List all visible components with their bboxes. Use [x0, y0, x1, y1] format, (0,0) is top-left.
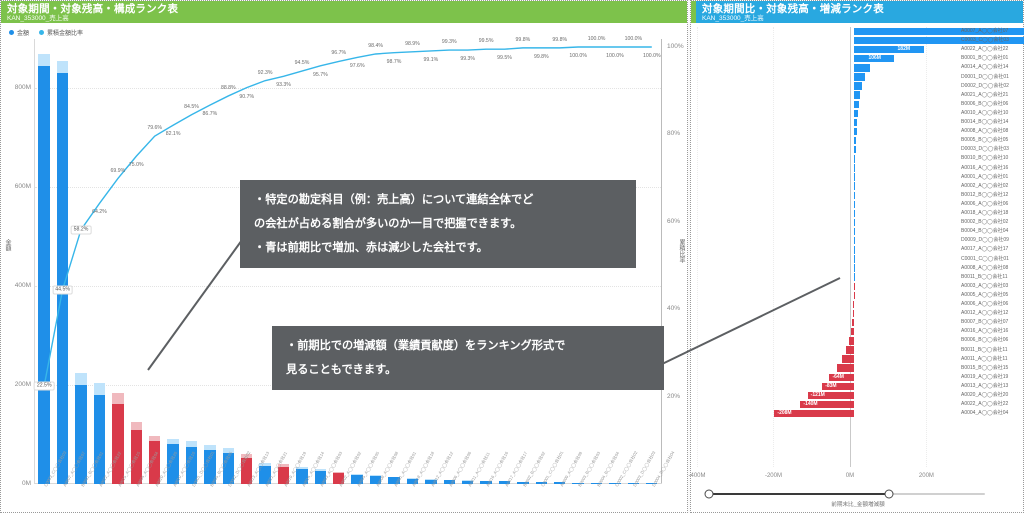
ranking-bar-23 — [854, 237, 855, 244]
ranking-row-22[interactable]: B0004_B◯◯会社04 — [695, 227, 1021, 236]
cumulative-label-6: 79.6% — [147, 125, 162, 131]
ranking-category-5: D0001_D◯◯会社01 — [961, 73, 1009, 82]
ranking-bar-28 — [854, 283, 855, 290]
callout-composition-line-2: の会社が占める割合が多いのか一目で把握できます。 — [254, 212, 622, 236]
ranking-category-31: A0012_A◯◯会社12 — [961, 309, 1008, 318]
ranking-bar-29 — [854, 292, 855, 299]
ranking-category-24: A0017_A◯◯会社17 — [961, 245, 1008, 254]
ranking-row-23[interactable]: D0009_D◯◯会社09 — [695, 236, 1021, 245]
ranking-row-19[interactable]: A0006_A◯◯会社06 — [695, 200, 1021, 209]
ranking-bar-33 — [851, 328, 854, 335]
ranking-category-41: A0022_A◯◯会社22 — [961, 400, 1008, 409]
y-tick-400M: 400M — [1, 282, 31, 289]
leader-line-ranking — [650, 270, 850, 380]
bar-cap-1 — [57, 61, 68, 73]
ranking-category-37: B0015_B◯◯会社15 — [961, 364, 1008, 373]
cumulative-label-2: 58.2% — [71, 225, 92, 234]
cumulative-label-17: 97.6% — [350, 63, 365, 69]
ranking-bar-2 — [854, 46, 924, 53]
ranking-bar-22 — [854, 228, 855, 235]
ranking-row-17[interactable]: A0002_A◯◯会社02 — [695, 182, 1021, 191]
cumulative-label-14: 94.5% — [295, 60, 310, 66]
ranking-bar-12 — [854, 137, 856, 144]
ranking-category-39: A0013_A◯◯会社13 — [961, 382, 1008, 391]
ranking-row-39[interactable]: -83MA0013_A◯◯会社13 — [695, 382, 1021, 391]
left-chart-legend: 金額 累積金額比率 — [9, 28, 83, 37]
bar-1[interactable] — [57, 61, 68, 484]
bar-body-1 — [57, 73, 68, 484]
ranking-row-2[interactable]: 182MA0022_A◯◯会社22 — [695, 45, 1021, 54]
ranking-category-34: B0006_B◯◯会社06 — [961, 336, 1008, 345]
ranking-bar-17 — [854, 182, 855, 189]
legend-item-amount: 金額 — [9, 28, 29, 37]
ranking-row-6[interactable]: D0002_D◯◯会社02 — [695, 82, 1021, 91]
ranking-bar-16 — [854, 173, 855, 180]
ranking-category-0: A0007_A◯◯会社07 — [961, 27, 1008, 36]
ranking-category-17: A0002_A◯◯会社02 — [961, 182, 1008, 191]
ranking-category-26: A0008_A◯◯会社08 — [961, 264, 1008, 273]
ranking-row-3[interactable]: 106MB0001_B◯◯会社01 — [695, 54, 1021, 63]
ranking-category-12: B0005_B◯◯会社05 — [961, 136, 1008, 145]
ranking-category-30: A0006_A◯◯会社06 — [961, 300, 1008, 309]
ranking-category-20: A0018_A◯◯会社18 — [961, 209, 1008, 218]
legend-label-amount: 金額 — [17, 28, 29, 37]
ranking-row-20[interactable]: A0018_A◯◯会社18 — [695, 209, 1021, 218]
ranking-category-27: B0011_B◯◯会社11 — [961, 273, 1008, 282]
right-x-tick--400: -400M — [688, 473, 705, 479]
legend-label-cumulative: 累積金額比率 — [47, 28, 83, 37]
y-tick-0M: 0M — [1, 480, 31, 487]
ranking-row-21[interactable]: B0002_B◯◯会社02 — [695, 218, 1021, 227]
callout-composition-line-3: ・青は前期比で増加、赤は減少した会社です。 — [254, 236, 622, 260]
cumulative-label-18: 98.4% — [368, 43, 383, 49]
callout-composition-line-1: ・特定の勘定科目（例：売上高）について連結全体でど — [254, 188, 622, 212]
cumulative-label-3: 64.2% — [92, 209, 107, 215]
callout-ranking-line-1: ・前期比での増減額（業績貢献度）をランキング形式で — [286, 334, 650, 358]
left-panel-header: 対象期間・対象残高・構成ランク表 KAN_353000_売上高 — [1, 1, 687, 23]
cumulative-label-22: 99.3% — [442, 39, 457, 45]
bar-4[interactable] — [112, 393, 123, 484]
cumulative-label-21: 99.1% — [423, 57, 438, 63]
ranking-row-41[interactable]: -140MA0022_A◯◯会社22 — [695, 400, 1021, 409]
ranking-bar-25 — [854, 255, 855, 262]
cumulative-label-25: 99.5% — [497, 55, 512, 61]
slider-knob-max[interactable] — [885, 490, 894, 499]
right-x-tick-0: 0M — [846, 473, 854, 479]
cumulative-label-33: 100.0% — [643, 53, 661, 59]
ranking-row-8[interactable]: B0006_B◯◯会社06 — [695, 100, 1021, 109]
ranking-bar-7 — [854, 91, 861, 98]
ranking-category-33: A0016_A◯◯会社16 — [961, 327, 1008, 336]
cumulative-label-29: 100.0% — [569, 53, 587, 59]
cumulative-label-5: 75.0% — [129, 162, 144, 168]
ranking-bar-value-2: 182M — [898, 46, 911, 53]
cumulative-label-24: 99.5% — [479, 38, 494, 44]
ranking-category-35: B0011_B◯◯会社11 — [961, 346, 1008, 355]
ranking-category-28: A0003_A◯◯会社03 — [961, 282, 1008, 291]
ranking-bar-31 — [853, 310, 854, 317]
cumulative-label-12: 92.3% — [258, 70, 273, 76]
callout-ranking-line-2: 見ることもできます。 — [286, 358, 650, 382]
ranking-row-7[interactable]: A0021_A◯◯会社21 — [695, 91, 1021, 100]
ranking-category-36: A0011_A◯◯会社11 — [961, 355, 1008, 364]
slider-knob-min[interactable] — [705, 490, 714, 499]
ranking-row-25[interactable]: C0001_C◯◯会社01 — [695, 255, 1021, 264]
ranking-category-11: A0008_A◯◯会社08 — [961, 127, 1008, 136]
cumulative-label-16: 96.7% — [331, 50, 346, 56]
bar-body-0 — [38, 66, 49, 484]
legend-dot-amount — [9, 30, 14, 35]
ranking-bar-value-39: -83M — [825, 383, 836, 390]
ranking-bar-11 — [854, 128, 857, 135]
ranking-row-10[interactable]: B0014_B◯◯会社14 — [695, 118, 1021, 127]
ranking-category-22: B0004_B◯◯会社04 — [961, 227, 1008, 236]
ranking-category-10: B0014_B◯◯会社14 — [961, 118, 1008, 127]
cumulative-label-9: 86.7% — [203, 111, 218, 117]
ranking-row-12[interactable]: B0005_B◯◯会社05 — [695, 136, 1021, 145]
ranking-row-16[interactable]: A0001_A◯◯会社01 — [695, 173, 1021, 182]
cumulative-label-19: 98.7% — [387, 59, 402, 65]
ranking-bar-26 — [854, 264, 855, 271]
ranking-row-14[interactable]: B0010_B◯◯会社10 — [695, 154, 1021, 163]
ranking-category-6: D0002_D◯◯会社02 — [961, 82, 1009, 91]
ranking-category-18: B0012_B◯◯会社12 — [961, 191, 1008, 200]
ranking-category-21: B0002_B◯◯会社02 — [961, 218, 1008, 227]
ranking-bar-8 — [854, 101, 859, 108]
legend-dot-cumulative — [39, 30, 44, 35]
ranking-bar-24 — [854, 246, 855, 253]
ranking-bar-32 — [852, 319, 854, 326]
ranking-category-25: C0001_C◯◯会社01 — [961, 255, 1009, 264]
increase-decrease-rank-panel: 対象期間比・対象残高・増減ランク表 KAN_353000_売上高 549MA00… — [690, 0, 1024, 513]
right-panel-title: 対象期間比・対象残高・増減ランク表 — [702, 3, 1023, 15]
ranking-category-7: A0021_A◯◯会社21 — [961, 91, 1008, 100]
y-tick-600M: 600M — [1, 183, 31, 190]
left-panel-subtitle: KAN_353000_売上高 — [7, 15, 687, 23]
cumulative-label-27: 99.8% — [534, 54, 549, 60]
cumulative-label-20: 98.9% — [405, 41, 420, 47]
ranking-row-24[interactable]: A0017_A◯◯会社17 — [695, 245, 1021, 254]
dashboard-root: 対象期間・対象残高・構成ランク表 KAN_353000_売上高 金額 累積金額比… — [0, 0, 1024, 513]
right-chart-plot-area: 549MA0007_A◯◯会社07532MC0003_C◯◯会社03182MA0… — [695, 27, 1021, 467]
ranking-category-2: A0022_A◯◯会社22 — [961, 45, 1008, 54]
ranking-bar-27 — [854, 273, 855, 280]
cumulative-label-30: 100.0% — [588, 36, 606, 42]
ranking-row-13[interactable]: D0003_D◯◯会社03 — [695, 145, 1021, 154]
left-panel-title: 対象期間・対象残高・構成ランク表 — [7, 3, 687, 15]
bar-body-3 — [94, 395, 105, 484]
ranking-category-32: B0007_B◯◯会社07 — [961, 318, 1008, 327]
right-x-tick-200: 200M — [919, 473, 934, 479]
ranking-category-23: D0009_D◯◯会社09 — [961, 236, 1009, 245]
ranking-bar-30 — [853, 301, 854, 308]
left-chart-y-axis-title: 金額 — [3, 239, 12, 251]
ranking-row-42[interactable]: -208MA0004_A◯◯会社04 — [695, 409, 1021, 418]
cumulative-label-10: 88.8% — [221, 85, 236, 91]
ranking-category-42: A0004_A◯◯会社04 — [961, 409, 1008, 418]
ranking-category-13: D0003_D◯◯会社03 — [961, 145, 1009, 154]
bar-cap-3 — [94, 383, 105, 395]
cumulative-label-11: 90.7% — [239, 94, 254, 100]
cumulative-label-13: 93.3% — [276, 82, 291, 88]
callout-composition: ・特定の勘定科目（例：売上高）について連結全体でど の会社が占める割合が多いのか… — [240, 180, 636, 268]
ranking-bar-21 — [854, 219, 855, 226]
ranking-bar-6 — [854, 82, 862, 89]
ranking-category-15: A0016_A◯◯会社16 — [961, 164, 1008, 173]
bar-0[interactable] — [38, 54, 49, 484]
right-x-tick--200: -200M — [765, 473, 782, 479]
ranking-category-14: B0010_B◯◯会社10 — [961, 154, 1008, 163]
ranking-bar-20 — [854, 210, 855, 217]
ranking-row-40[interactable]: -121MA0020_A◯◯会社20 — [695, 391, 1021, 400]
y-tick-800M: 800M — [1, 84, 31, 91]
ranking-bar-4 — [854, 64, 870, 71]
ranking-bar-9 — [854, 110, 858, 117]
legend-item-cumulative: 累積金額比率 — [39, 28, 83, 37]
cumulative-label-15: 95.7% — [313, 72, 328, 78]
ranking-bar-10 — [854, 119, 857, 126]
callout-ranking: ・前期比での増減額（業績貢献度）をランキング形式で 見ることもできます。 — [272, 326, 664, 390]
ranking-category-40: A0020_A◯◯会社20 — [961, 391, 1008, 400]
ranking-bar-value-40: -121M — [811, 392, 825, 399]
bar-cap-5 — [131, 422, 142, 429]
ranking-bar-14 — [854, 155, 856, 162]
right-panel-subtitle: KAN_353000_売上高 — [702, 15, 1023, 23]
ranking-bar-5 — [854, 73, 865, 80]
cumulative-label-31: 100.0% — [606, 53, 624, 59]
ranking-category-1: C0003_C◯◯会社03 — [961, 36, 1009, 45]
bar-cap-4 — [112, 393, 123, 404]
ranking-bar-13 — [854, 146, 856, 153]
ranking-bar-value-3: 106M — [868, 55, 881, 62]
ranking-category-4: A0014_A◯◯会社14 — [961, 63, 1008, 72]
ranking-category-19: A0006_A◯◯会社06 — [961, 200, 1008, 209]
cumulative-label-28: 99.8% — [552, 37, 567, 43]
ranking-category-16: A0001_A◯◯会社01 — [961, 173, 1008, 182]
ranking-category-3: B0001_B◯◯会社01 — [961, 54, 1008, 63]
ranking-row-4[interactable]: A0014_A◯◯会社14 — [695, 63, 1021, 72]
ranking-category-8: B0006_B◯◯会社06 — [961, 100, 1008, 109]
ranking-row-11[interactable]: A0008_A◯◯会社08 — [695, 127, 1021, 136]
ranking-bar-18 — [854, 192, 855, 199]
right-panel-header: 対象期間比・対象残高・増減ランク表 KAN_353000_売上高 — [691, 1, 1023, 23]
ranking-row-9[interactable]: A0010_A◯◯会社10 — [695, 109, 1021, 118]
ranking-bar-15 — [854, 164, 855, 171]
cumulative-label-26: 99.8% — [516, 37, 531, 43]
cumulative-label-7: 82.1% — [166, 131, 181, 137]
bar-cap-0 — [38, 54, 49, 66]
y-tick-200M: 200M — [1, 381, 31, 388]
cumulative-label-32: 100.0% — [625, 36, 643, 42]
bar-cap-2 — [75, 373, 86, 385]
ranking-category-29: A0005_A◯◯会社05 — [961, 291, 1008, 300]
ranking-row-0[interactable]: 549MA0007_A◯◯会社07 — [695, 27, 1021, 36]
ranking-bar-19 — [854, 201, 855, 208]
cumulative-label-8: 84.5% — [184, 104, 199, 110]
ranking-bar-value-42: -208M — [777, 410, 791, 417]
slider-selected-range — [707, 493, 889, 495]
ranking-bar-value-41: -140M — [803, 401, 817, 408]
ranking-category-9: A0010_A◯◯会社10 — [961, 109, 1008, 118]
ranking-row-18[interactable]: B0012_B◯◯会社12 — [695, 191, 1021, 200]
ranking-bar-34 — [849, 337, 854, 344]
bar-body-4 — [112, 404, 123, 485]
cumulative-label-4: 69.9% — [110, 168, 125, 174]
cumulative-label-23: 99.3% — [460, 56, 475, 62]
ranking-row-5[interactable]: D0001_D◯◯会社01 — [695, 73, 1021, 82]
ranking-category-38: A0019_A◯◯会社19 — [961, 373, 1008, 382]
cumulative-label-0: 22.5% — [34, 381, 55, 390]
left-chart-y2-axis-line — [661, 39, 662, 484]
cumulative-label-1: 44.5% — [52, 285, 73, 294]
ranking-row-15[interactable]: A0016_A◯◯会社16 — [695, 164, 1021, 173]
slider-caption: 前期末比_金額増減額 — [831, 500, 884, 508]
ranking-row-1[interactable]: 532MC0003_C◯◯会社03 — [695, 36, 1021, 45]
left-chart-y2-axis-title: 累積比率 — [677, 239, 686, 263]
